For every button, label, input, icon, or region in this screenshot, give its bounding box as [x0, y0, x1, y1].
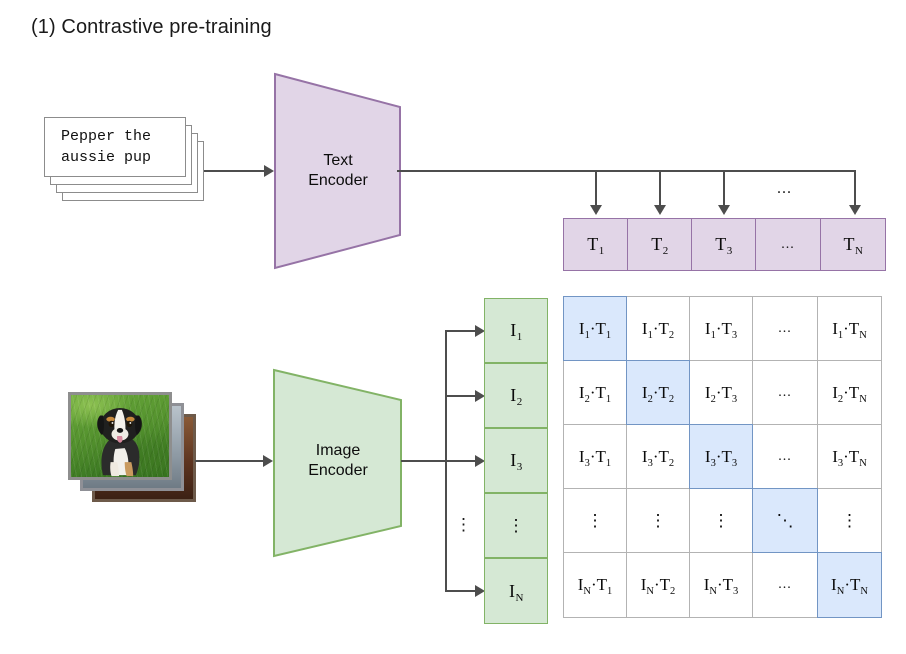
- matrix-cell-label: IN·T1: [578, 575, 613, 595]
- image-embedding-cell-2[interactable]: I2: [484, 363, 548, 428]
- matrix-cell-3-5: I3·TN: [817, 424, 882, 489]
- matrix-cell-4-2: ⋮: [626, 488, 690, 553]
- arrowhead-image-to-encoder: [263, 455, 273, 467]
- matrix-cell-1-4: ...: [752, 296, 818, 361]
- matrix-cell-label: I2·T3: [705, 383, 737, 403]
- matrix-cell-label: I1·T2: [642, 319, 674, 339]
- matrix-cell-2-2: I2·T2: [626, 360, 690, 425]
- matrix-cell-2-5: I2·TN: [817, 360, 882, 425]
- wire-text-branch-n: [854, 170, 856, 208]
- arrowhead-text-to-encoder: [264, 165, 274, 177]
- text-encoder[interactable]: Text Encoder: [274, 72, 402, 270]
- image-input-stack: [68, 392, 198, 502]
- matrix-cell-2-4: ...: [752, 360, 818, 425]
- matrix-cell-2-1: I2·T1: [563, 360, 627, 425]
- image-embedding-label-ellipsis: ⋮: [508, 517, 525, 534]
- matrix-cell-1-1: I1·T1: [563, 296, 627, 361]
- text-embedding-label-n: TN: [844, 234, 863, 255]
- matrix-cell-1-3: I1·T3: [689, 296, 753, 361]
- wire-text-branch-3: [723, 170, 725, 208]
- matrix-cell-4-1: ⋮: [563, 488, 627, 553]
- matrix-cell-label: IN·T2: [641, 575, 676, 595]
- image-embedding-label-3: I3: [510, 450, 522, 471]
- arrowhead-text-3: [718, 205, 730, 215]
- matrix-cell-label: I2·T1: [579, 383, 611, 403]
- matrix-cell-label: I2·TN: [832, 383, 867, 403]
- text-embedding-cell-2[interactable]: T2: [627, 218, 692, 271]
- matrix-cell-label: I3·TN: [832, 447, 867, 467]
- text-encoder-label: Text Encoder: [274, 151, 402, 191]
- image-embedding-label-1: I1: [510, 320, 522, 341]
- similarity-matrix: I1·T1I1·T2I1·T3...I1·TNI2·T1I2·T2I2·T3..…: [563, 296, 886, 624]
- image-embedding-cell-1[interactable]: I1: [484, 298, 548, 363]
- matrix-cell-1-5: I1·TN: [817, 296, 882, 361]
- matrix-cell-label: I1·TN: [832, 319, 867, 339]
- image-card-front: [68, 392, 172, 480]
- matrix-cell-label: IN·T3: [704, 575, 739, 595]
- text-bus-ellipsis: ...: [777, 180, 792, 198]
- arrowhead-text-1: [590, 205, 602, 215]
- matrix-cell-label: ...: [778, 321, 792, 337]
- image-encoder-label: Image Encoder: [273, 441, 403, 481]
- matrix-cell-label: ⋮: [650, 512, 667, 529]
- image-embedding-cell-n[interactable]: IN: [484, 558, 548, 624]
- image-embedding-label-n: IN: [509, 581, 523, 602]
- page-title: (1) Contrastive pre-training: [31, 16, 272, 39]
- text-embedding-label-1: T1: [587, 234, 604, 255]
- matrix-cell-label: ...: [778, 385, 792, 401]
- matrix-cell-4-5: ⋮: [817, 488, 882, 553]
- matrix-cell-label: ⋮: [713, 512, 730, 529]
- image-embedding-cell-ellipsis: ⋮: [484, 493, 548, 558]
- matrix-cell-5-4: ...: [752, 552, 818, 618]
- matrix-cell-label: ...: [778, 577, 792, 593]
- text-embedding-cell-3[interactable]: T3: [691, 218, 756, 271]
- matrix-cell-4-3: ⋮: [689, 488, 753, 553]
- matrix-cell-3-1: I3·T1: [563, 424, 627, 489]
- wire-text-to-encoder: [204, 170, 266, 172]
- wire-text-branch-1: [595, 170, 597, 208]
- text-input-stack: Pepper the aussie pup: [44, 117, 204, 201]
- matrix-cell-3-3: I3·T3: [689, 424, 753, 489]
- arrowhead-text-n: [849, 205, 861, 215]
- wire-image-encoder-out: [401, 460, 447, 462]
- matrix-cell-5-1: IN·T1: [563, 552, 627, 618]
- arrowhead-text-2: [654, 205, 666, 215]
- matrix-cell-3-2: I3·T2: [626, 424, 690, 489]
- matrix-cell-label: I3·T1: [579, 447, 611, 467]
- text-caption: Pepper the aussie pup: [61, 126, 151, 168]
- matrix-cell-1-2: I1·T2: [626, 296, 690, 361]
- text-embedding-label-2: T2: [651, 234, 668, 255]
- text-embedding-cell-n[interactable]: TN: [820, 218, 886, 271]
- matrix-cell-label: ⋮: [841, 512, 858, 529]
- matrix-cell-label: ...: [778, 449, 792, 465]
- wire-text-branch-2: [659, 170, 661, 208]
- matrix-cell-5-5: IN·TN: [817, 552, 882, 618]
- image-encoder[interactable]: Image Encoder: [273, 368, 403, 558]
- matrix-cell-3-4: ...: [752, 424, 818, 489]
- matrix-cell-label: ⋮: [587, 512, 604, 529]
- matrix-cell-label: I1·T3: [705, 319, 737, 339]
- matrix-cell-label: I3·T2: [642, 447, 674, 467]
- matrix-cell-label: I2·T2: [642, 383, 674, 403]
- wire-image-to-encoder: [195, 460, 265, 462]
- matrix-cell-5-3: IN·T3: [689, 552, 753, 618]
- matrix-cell-2-3: I2·T3: [689, 360, 753, 425]
- text-embedding-cell-ellipsis: ...: [755, 218, 821, 271]
- matrix-cell-label: IN·TN: [831, 575, 868, 595]
- matrix-cell-label: I3·T3: [705, 447, 737, 467]
- matrix-cell-5-2: IN·T2: [626, 552, 690, 618]
- matrix-cell-4-4: ⋱: [752, 488, 818, 553]
- image-embedding-label-2: I2: [510, 385, 522, 406]
- text-card-front: Pepper the aussie pup: [44, 117, 186, 177]
- matrix-cell-label: I1·T1: [579, 319, 611, 339]
- text-embedding-label-3: T3: [715, 234, 732, 255]
- wire-text-encoder-out: [397, 170, 856, 172]
- puppy-illustration: [71, 395, 169, 477]
- text-embedding-cell-1[interactable]: T1: [563, 218, 628, 271]
- figure-canvas: (1) Contrastive pre-training Pepper the …: [0, 0, 906, 654]
- image-bus-ellipsis: ⋮: [455, 516, 472, 533]
- image-embedding-cell-3[interactable]: I3: [484, 428, 548, 493]
- matrix-cell-label: ⋱: [777, 512, 794, 529]
- text-embedding-label-ellipsis: ...: [781, 237, 795, 253]
